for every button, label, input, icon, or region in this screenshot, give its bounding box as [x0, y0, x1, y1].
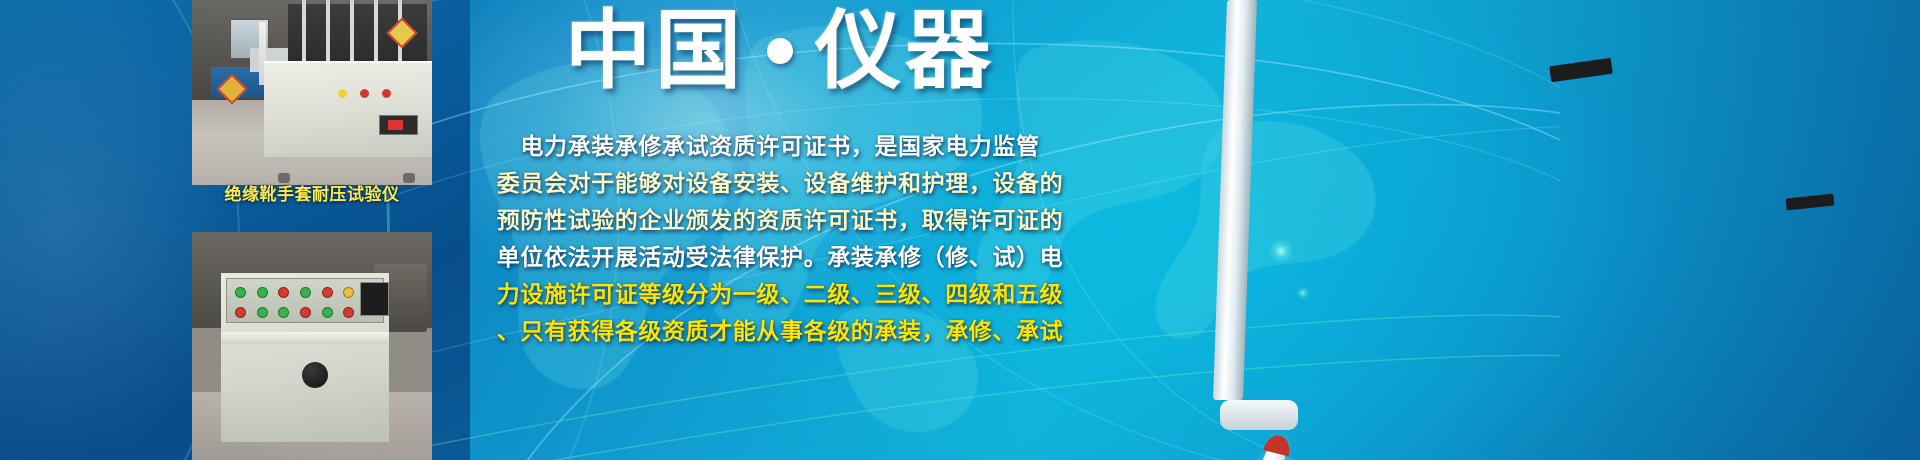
- body-line-5: 力设施许可证等级分为一级、二级、三级、四级和五级: [470, 276, 1090, 313]
- banner-body-text: 电力承装承修承试资质许可证书，是国家电力监管 委员会对于能够对设备安装、设备维护…: [470, 128, 1090, 350]
- title-separator-dot: [767, 38, 793, 64]
- blade-tip: [1263, 433, 1292, 456]
- wind-turbine-group: [1220, 0, 1920, 460]
- product-caption-1: 绝缘靴手套耐压试验仪: [192, 186, 432, 203]
- body-line-2: 委员会对于能够对设备安装、设备维护和护理，设备的: [470, 165, 1090, 202]
- wind-turbine-hub: [1786, 194, 1835, 211]
- body-line-1: 电力承装承修承试资质许可证书，是国家电力监管: [470, 128, 1090, 165]
- promo-banner: 绝缘靴手套耐压试验仪: [0, 0, 1920, 460]
- title-right: 仪器: [815, 8, 995, 94]
- insulating-boots-gloves-withstand-voltage-tester-photo: [192, 0, 432, 185]
- wind-turbine-blade: [1220, 433, 1292, 460]
- body-line-6: 、只有获得各级资质才能从事各级的承装，承修、承试: [470, 313, 1090, 350]
- banner-content: 中国 仪器 电力承装承修承试资质许可证书，是国家电力监管 委员会对于能够对设备安…: [470, 0, 1090, 460]
- wind-turbine-nacelle: [1220, 400, 1298, 430]
- banner-title: 中国 仪器: [470, 8, 1090, 94]
- body-line-3: 预防性试验的企业颁发的资质许可证书，取得许可证的: [470, 202, 1090, 239]
- wind-turbine-hub: [1549, 58, 1613, 82]
- product-image-column: 绝缘靴手套耐压试验仪: [192, 0, 432, 460]
- body-line-4: 单位依法开展活动受法律保护。承装承修（修、试）电: [470, 239, 1090, 276]
- product-photo-1[interactable]: [192, 0, 432, 185]
- title-left: 中国: [565, 8, 745, 94]
- wind-turbine-tower: [1213, 0, 1257, 400]
- control-console-test-equipment-photo: [192, 232, 432, 460]
- product-photo-2[interactable]: [192, 232, 432, 460]
